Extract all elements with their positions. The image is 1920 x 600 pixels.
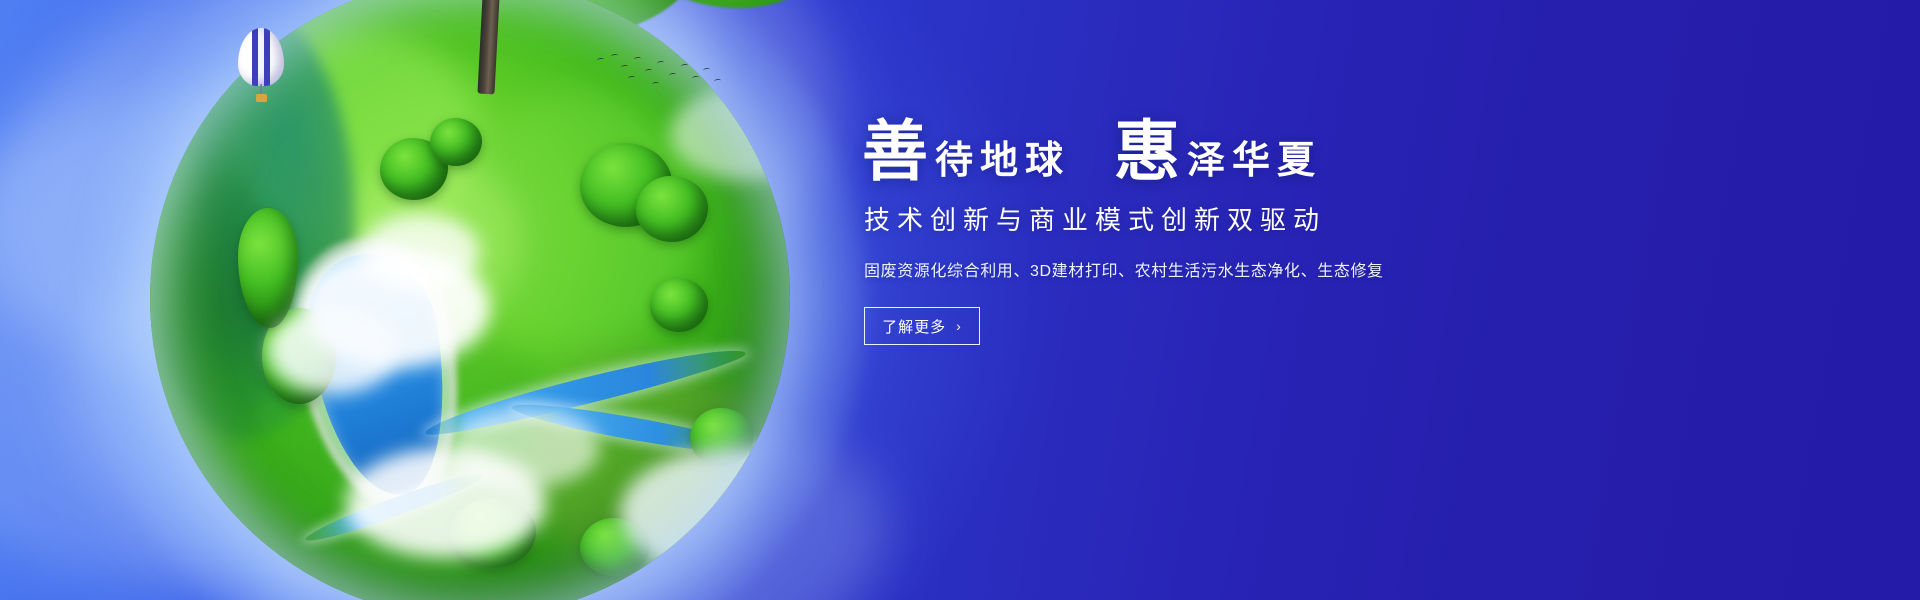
page-title: 善 待地球 惠 泽华夏 xyxy=(862,120,1562,186)
learn-more-label: 了解更多 xyxy=(882,316,946,337)
hero-copy: 善 待地球 惠 泽华夏 技术创新与商业模式创新双驱动 固废资源化综合利用、3D建… xyxy=(862,120,1562,345)
headline-rest-1: 待地球 xyxy=(929,142,1070,186)
learn-more-button[interactable]: 了解更多 › xyxy=(864,307,980,345)
tree-icon xyxy=(640,0,830,8)
hero-subtitle: 技术创新与商业模式创新双驱动 xyxy=(864,200,1562,237)
hot-air-balloon-icon xyxy=(238,28,284,106)
balloon-envelope xyxy=(238,28,284,86)
headline-char-1: 善 xyxy=(862,120,929,186)
chevron-right-icon: › xyxy=(956,319,962,333)
hero-banner: 善 待地球 惠 泽华夏 技术创新与商业模式创新双驱动 固废资源化综合利用、3D建… xyxy=(0,0,1920,600)
balloon-basket xyxy=(256,94,267,102)
hero-description: 固废资源化综合利用、3D建材打印、农村生活污水生态净化、生态修复 xyxy=(864,257,1562,281)
headline-rest-2: 泽华夏 xyxy=(1181,142,1322,186)
bird-flock-icon xyxy=(595,52,725,92)
headline-char-2: 惠 xyxy=(1114,120,1181,186)
